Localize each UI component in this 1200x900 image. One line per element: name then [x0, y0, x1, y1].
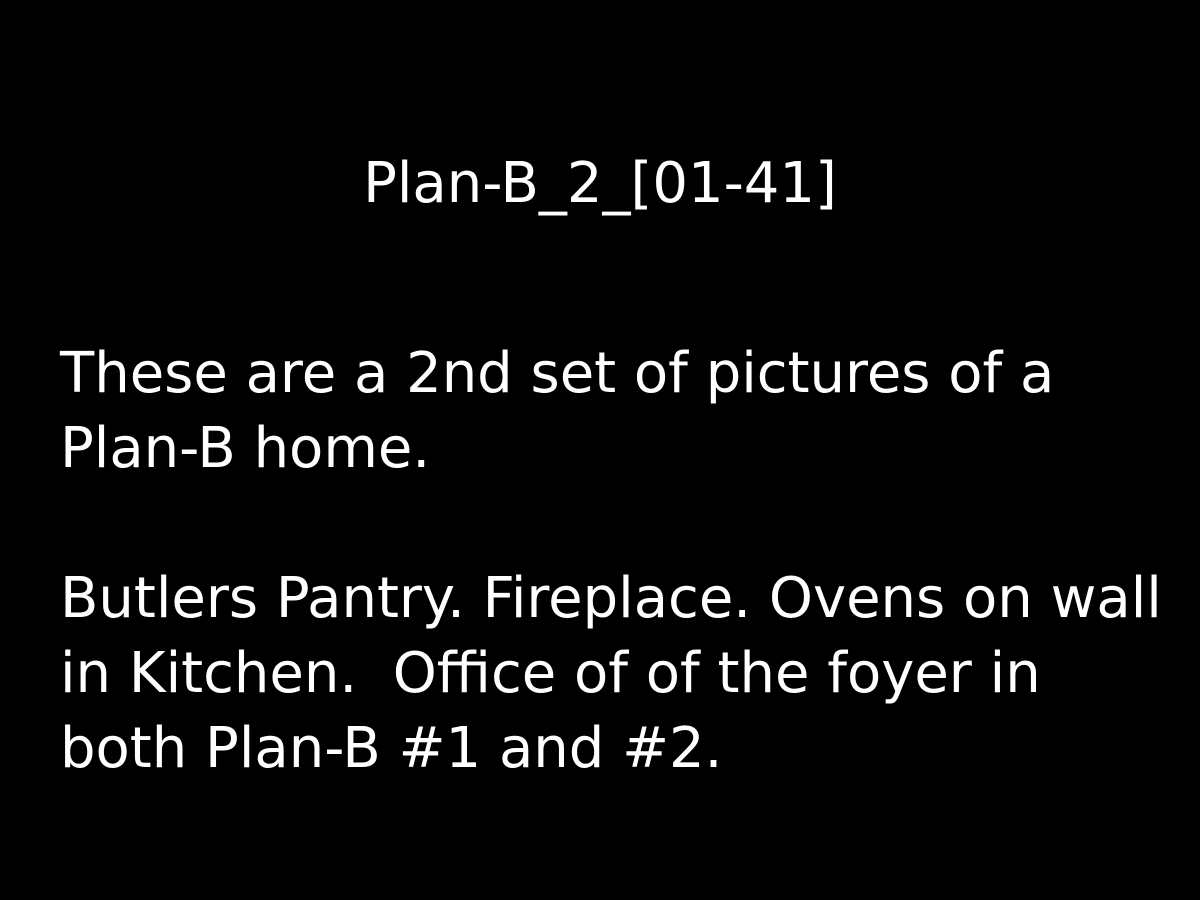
slide-title: Plan-B_2_[01-41] — [0, 150, 1200, 218]
body-paragraph-intro: These are a 2nd set of pictures of a Pla… — [60, 336, 1170, 486]
slide-body: These are a 2nd set of pictures of a Pla… — [60, 336, 1170, 786]
body-paragraph-features: Butlers Pantry. Fireplace. Ovens on wall… — [60, 561, 1170, 786]
slide-canvas: Plan-B_2_[01-41] These are a 2nd set of … — [0, 0, 1200, 900]
paragraph-spacer — [60, 486, 1170, 561]
